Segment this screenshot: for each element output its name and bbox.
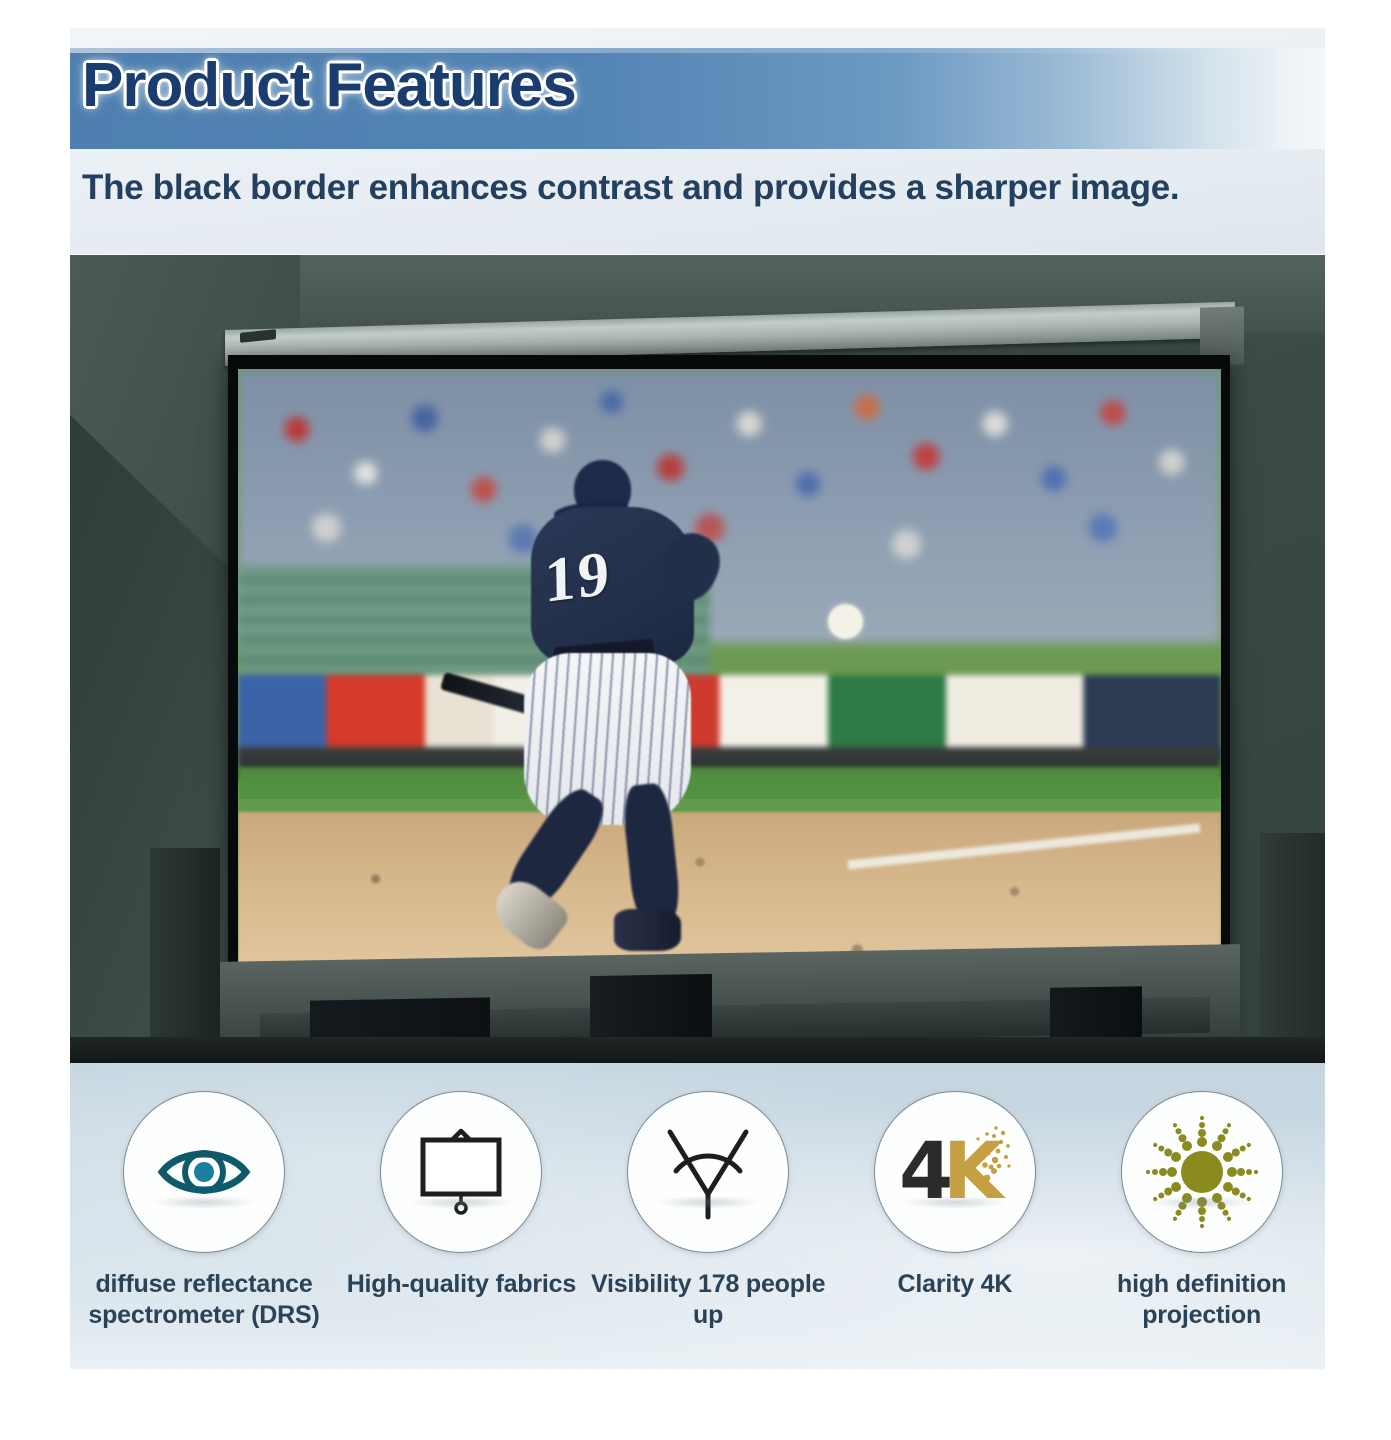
baseball — [828, 604, 863, 639]
feature-icon-circle — [380, 1091, 542, 1253]
room-floor — [70, 1037, 1325, 1063]
feature-icon-circle: 4 K — [874, 1091, 1036, 1253]
viewing-angle-icon — [656, 1122, 760, 1222]
features-strip: diffuse reflectance spectrometer (DRS) H… — [70, 1063, 1325, 1369]
feature-item-fabrics: High-quality fabrics — [338, 1063, 585, 1369]
feature-label: diffuse reflectance spectrometer (DRS) — [70, 1269, 338, 1330]
product-features-page: Product Features The black border enhanc… — [0, 0, 1391, 1440]
projector-screen-icon — [411, 1124, 511, 1220]
feature-item-visibility: Visibility 178 people up — [585, 1063, 832, 1369]
feature-label: Clarity 4K — [836, 1269, 1074, 1300]
feature-label: Visibility 178 people up — [589, 1269, 827, 1330]
projected-image: 19 — [238, 369, 1221, 1021]
left-speaker-tower — [150, 848, 220, 1063]
page-subtitle: The black border enhances contrast and p… — [82, 168, 1322, 208]
feature-item-clarity-4k: 4 K — [832, 1063, 1079, 1369]
feature-label: High-quality fabrics — [342, 1269, 580, 1300]
feature-icon-circle — [123, 1091, 285, 1253]
feature-label: high definition projection — [1083, 1269, 1321, 1330]
4k-icon: 4 K — [895, 1122, 1015, 1222]
feature-item-drs: diffuse reflectance spectrometer (DRS) — [70, 1063, 338, 1369]
feature-icon-circle — [627, 1091, 789, 1253]
page-title: Product Features — [82, 55, 576, 117]
jersey-number: 19 — [544, 533, 638, 613]
right-speaker-tower — [1260, 833, 1325, 1063]
baseball-batter: 19 — [474, 460, 808, 982]
feature-icon-circle — [1121, 1091, 1283, 1253]
feature-item-hd-projection: high definition projection — [1078, 1063, 1325, 1369]
right-cleat — [614, 909, 681, 951]
sunburst-icon — [1141, 1111, 1263, 1233]
product-photo: 19 — [70, 255, 1325, 1063]
eye-icon — [156, 1141, 252, 1203]
projector-screen-black-border: 19 — [228, 355, 1230, 1045]
